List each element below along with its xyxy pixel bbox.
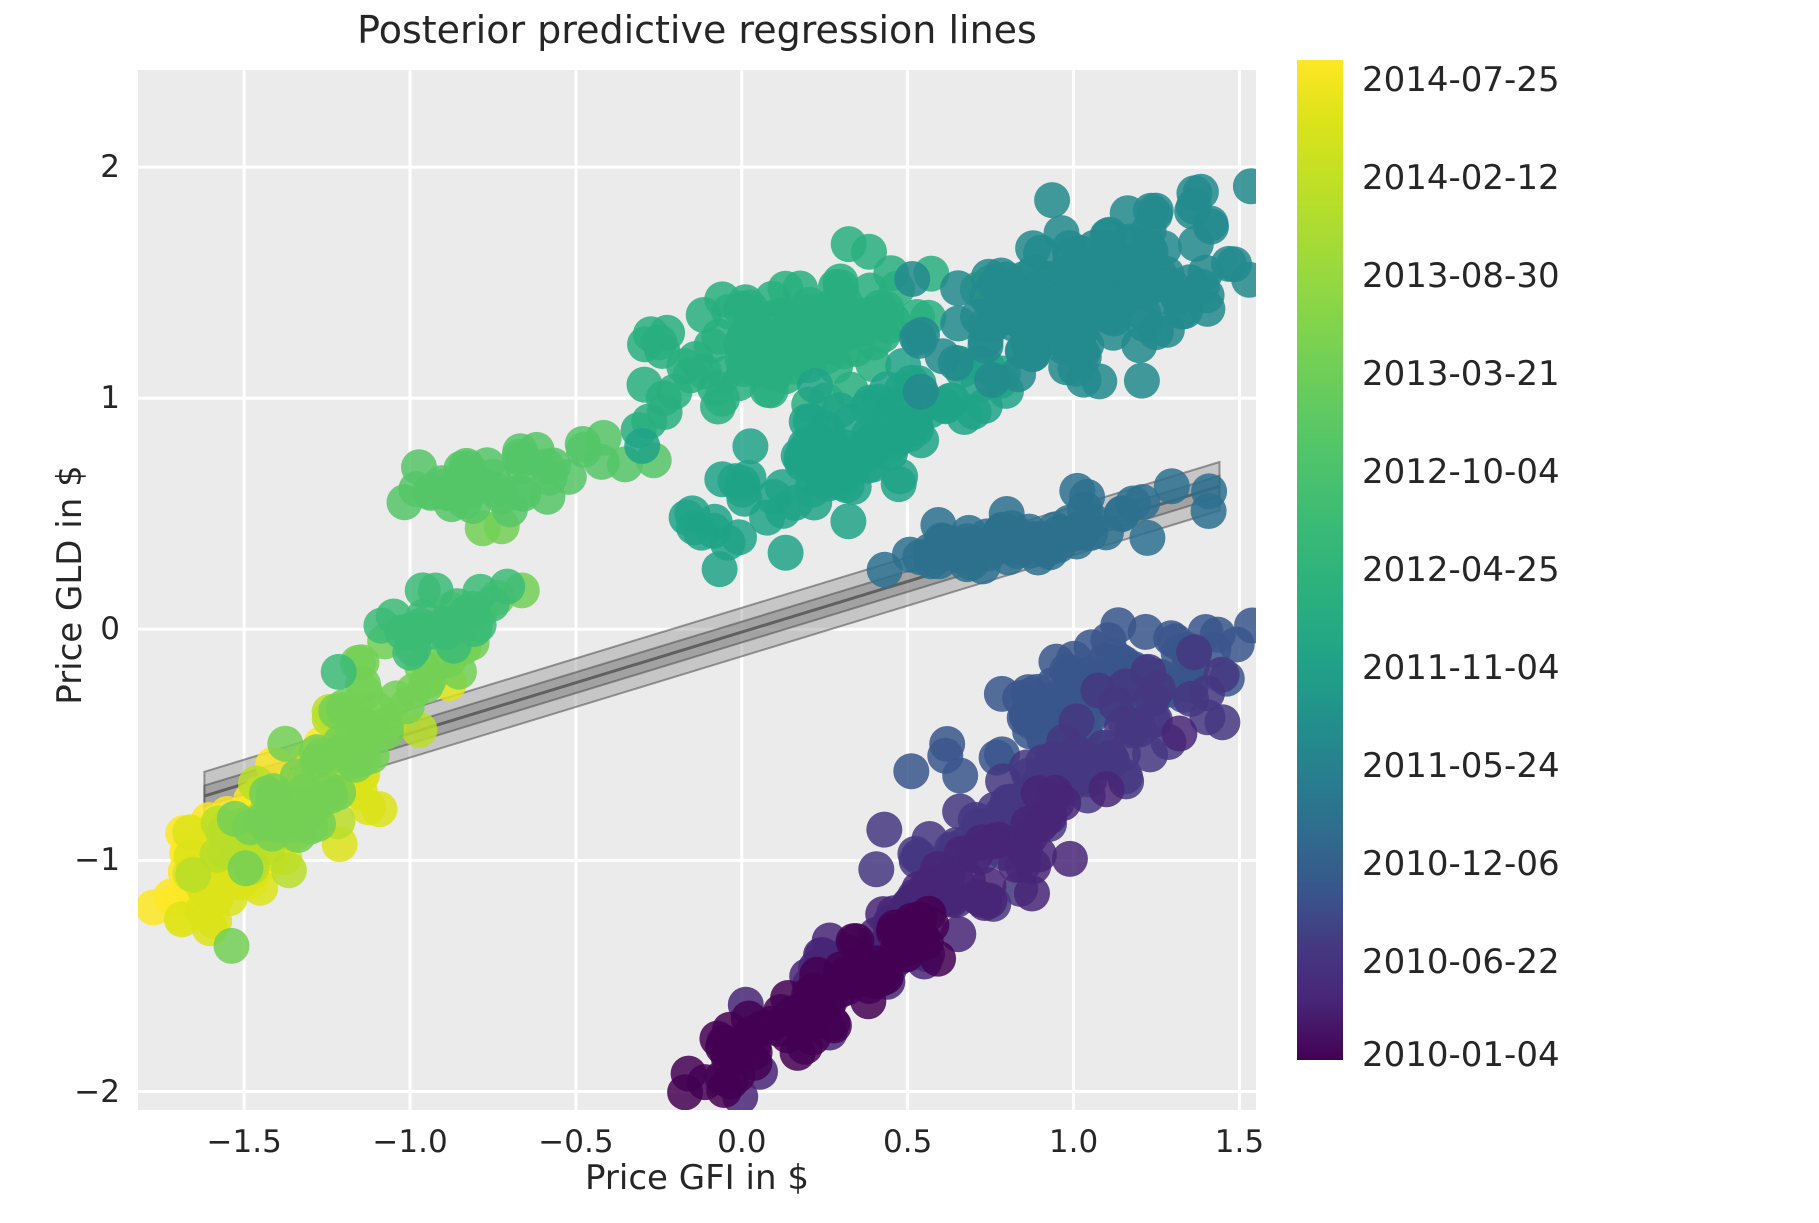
colorbar-tick-label: 2011-05-24	[1362, 746, 1560, 786]
x-tick-label: −1.5	[207, 1124, 282, 1160]
page-title: Posterior predictive regression lines	[138, 8, 1256, 52]
y-axis-label: Price GLD in $	[50, 235, 90, 935]
colorbar-tick-label: 2013-08-30	[1362, 256, 1560, 296]
scatter-plot-svg	[138, 70, 1256, 1110]
y-tick-label: −2	[8, 1074, 120, 1110]
x-tick-label: 1.5	[1215, 1124, 1264, 1160]
y-tick-label: 2	[8, 149, 120, 185]
x-axis-label: Price GFI in $	[138, 1158, 1256, 1198]
x-tick-label: 0.0	[717, 1124, 766, 1160]
colorbar-gradient	[1297, 60, 1343, 1060]
x-tick-label: −1.0	[372, 1124, 447, 1160]
colorbar-tick-label: 2012-04-25	[1362, 550, 1560, 590]
colorbar-tick-label: 2011-11-04	[1362, 648, 1560, 688]
colorbar-tick-label: 2010-12-06	[1362, 844, 1560, 884]
gridlines	[138, 70, 1256, 1110]
colorbar-tick-label: 2014-07-25	[1362, 60, 1560, 100]
colorbar-tick-label: 2012-10-04	[1362, 452, 1560, 492]
x-tick-label: 0.5	[883, 1124, 932, 1160]
plot-area	[138, 70, 1256, 1110]
colorbar-tick-label: 2014-02-12	[1362, 158, 1560, 198]
colorbar	[1297, 60, 1343, 1060]
colorbar-tick-label: 2010-01-04	[1362, 1035, 1560, 1075]
x-tick-label: 1.0	[1049, 1124, 1098, 1160]
colorbar-tick-label: 2013-03-21	[1362, 354, 1560, 394]
x-tick-label: −0.5	[538, 1124, 613, 1160]
colorbar-tick-label: 2010-06-22	[1362, 942, 1560, 982]
figure-canvas: Posterior predictive regression lines −1…	[0, 0, 1819, 1223]
